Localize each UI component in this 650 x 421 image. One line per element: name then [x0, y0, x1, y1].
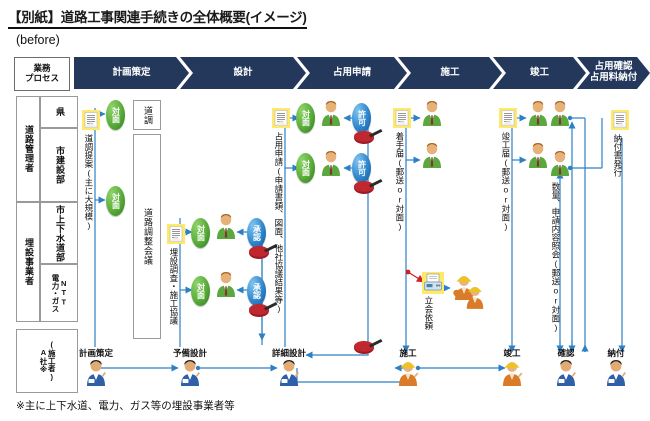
box-label: 道調 [142, 106, 152, 125]
construction-worker-orange-icon [396, 358, 420, 386]
actor-row-ken: 県 [40, 96, 78, 128]
actor-row-label-line1: 電力・ガス [51, 274, 59, 313]
actor-row-label: 市上下水道部 [54, 205, 64, 262]
official-person-green-icon [215, 213, 237, 239]
badge-label: 対面 [302, 110, 310, 126]
badge-taimen: 対面 [296, 103, 315, 133]
official-person-green-icon [549, 150, 571, 176]
actor-group-label: 埋設事業者 [23, 238, 33, 286]
process-step-label: 占用申請 [333, 68, 371, 79]
badge-label: 承認 [253, 283, 261, 299]
official-person-green-icon [320, 100, 342, 126]
actor-group-utility: 埋設事業者 [16, 202, 40, 322]
actor-row-label-line2: NTT [59, 279, 67, 307]
badge-label: 対面 [197, 225, 205, 241]
badge-label: 許可 [358, 110, 366, 126]
document-icon [611, 110, 629, 130]
actor-row-waterworks: 市上下水道部 [40, 202, 78, 264]
actor-group-label-line2: (施工者) [47, 340, 55, 382]
process-step-senyou-kakunin[interactable]: 占用確認 占用料納付 [577, 57, 650, 89]
document-icon [393, 108, 411, 128]
actor-row-label: 県 [54, 107, 64, 117]
official-person-green-icon [215, 271, 237, 297]
process-bar-label: 業務 プロセス [14, 57, 70, 91]
badge-taimen: 対面 [106, 186, 125, 216]
badge-taimen: 対面 [106, 100, 125, 130]
process-step-label: 設計 [233, 68, 252, 79]
stamp-icon [353, 128, 383, 146]
process-step-senyou-shinsei[interactable]: 占用申請 [297, 57, 407, 89]
official-person-green-icon [421, 100, 443, 126]
official-person-green-icon [527, 142, 549, 168]
diagram-page: 【別紙】道路工事関連手続きの全体概要(イメージ) (before) 業務 プロセ… [0, 0, 650, 421]
process-step-sekkei[interactable]: 設計 [180, 57, 306, 89]
construction-worker-orange-icon [464, 283, 486, 309]
actor-row-label: 市建設部 [54, 146, 64, 184]
flow-label-maisetsu-chousa: 埋設調査・施工協議 [169, 248, 178, 325]
badge-label: 承認 [253, 225, 261, 241]
process-step-shunkou[interactable]: 竣工 [493, 57, 586, 89]
actor-group-label: 道路管理者 [23, 125, 33, 173]
official-person-green-icon [549, 100, 571, 126]
process-step-label: 竣工 [530, 68, 549, 79]
flow-label-doukyou-teian: 道調提案(主に大規模) [84, 134, 93, 231]
process-step-sekou[interactable]: 施工 [398, 57, 502, 89]
badge-label: 対面 [197, 283, 205, 299]
process-step-keikaku[interactable]: 計画策定 [74, 57, 189, 89]
page-title: 【別紙】道路工事関連手続きの全体概要(イメージ) [8, 6, 307, 29]
flow-label-suryou-shoukai: 数量、申請内容照会(郵送or対面) [551, 182, 560, 333]
actor-row-utility-companies: 電力・ガス NTT [40, 264, 78, 322]
office-worker-blue-icon [84, 358, 108, 386]
actor-table: 道路管理者 県 市建設部 埋設事業者 市上下水道部 電力・ガス NTT A社※ … [16, 96, 78, 360]
fax-icon [422, 272, 444, 294]
official-person-green-icon [421, 142, 443, 168]
footnote: ※主に上下水道、電力、ガス等の埋設事業者等 [16, 398, 235, 413]
flow-label-senyou-shinsei: 占用申請(申請書類、図面、他社協議結果等) [274, 132, 283, 314]
flow-label-noufusho-hakkou: 納付書発行 [613, 134, 622, 177]
process-step-label: 計画策定 [112, 68, 150, 79]
box-doukyou: 道調 [133, 100, 161, 130]
actor-group-label-line1: A社※ [39, 348, 47, 374]
box-label: 道路調整会議 [142, 208, 152, 265]
office-worker-blue-icon [554, 358, 578, 386]
badge-label: 対面 [302, 160, 310, 176]
office-worker-blue-icon [178, 358, 202, 386]
badge-label: 対面 [112, 107, 120, 123]
badge-taimen: 対面 [191, 218, 210, 248]
box-road-coordination-meeting: 道路調整会議 [133, 134, 161, 339]
official-person-green-icon [527, 100, 549, 126]
process-bar-label-line2: プロセス [25, 74, 59, 84]
process-bar: 業務 プロセス 計画策定 設計 占用申請 施工 竣工 占用確認 占用料納付 [14, 57, 650, 91]
official-person-green-icon [320, 150, 342, 176]
document-icon [272, 108, 290, 128]
actor-group-contractor: A社※ (施工者) [16, 329, 78, 393]
construction-worker-orange-icon [500, 358, 524, 386]
document-icon [82, 110, 100, 130]
document-icon [167, 224, 185, 244]
badge-taimen: 対面 [191, 276, 210, 306]
badge-taimen: 対面 [296, 153, 315, 183]
stamp-icon [353, 338, 383, 356]
process-step-label-line2: 占用料納付 [590, 73, 638, 84]
process-step-label: 施工 [440, 68, 459, 79]
office-worker-blue-icon [604, 358, 628, 386]
actor-group-road-manager: 道路管理者 [16, 96, 40, 202]
flow-label-tachiai-irai: 立会依頼 [424, 296, 433, 330]
badge-label: 許可 [358, 160, 366, 176]
stamp-icon [353, 178, 383, 196]
page-subtitle: (before) [16, 33, 60, 47]
badge-label: 対面 [112, 193, 120, 209]
document-icon [499, 108, 517, 128]
flow-label-shunkou-todoke: 竣工届(郵送or対面) [501, 132, 510, 232]
office-worker-blue-icon [277, 358, 301, 386]
flow-label-chakushu-todoke: 着手届(郵送or対面) [395, 132, 404, 232]
actor-row-shi-kensetsu: 市建設部 [40, 128, 78, 202]
